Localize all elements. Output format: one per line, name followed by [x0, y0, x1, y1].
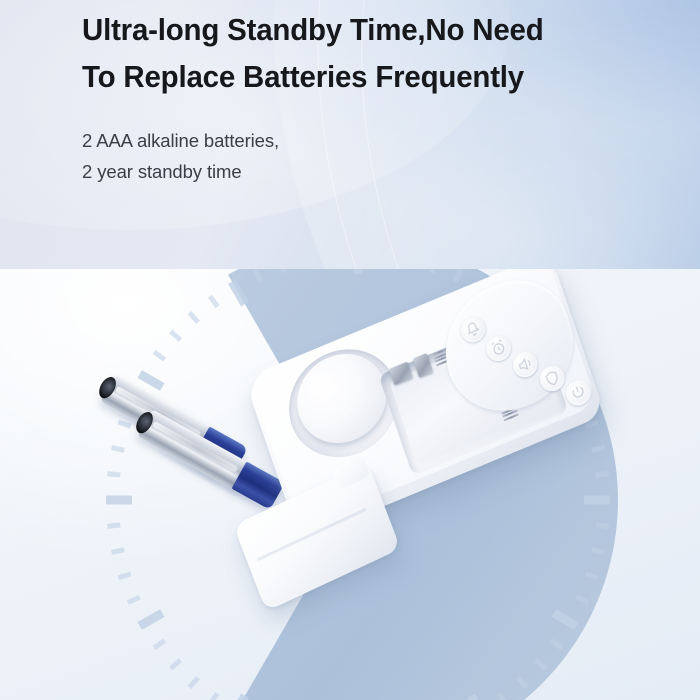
power-icon [568, 381, 589, 404]
product-banner: Ultra-long Standby Time,No Need To Repla… [0, 0, 700, 700]
bell-icon [462, 318, 483, 341]
headline-line-1: Ultra-long Standby Time,No Need [82, 6, 633, 53]
speaker-icon [515, 353, 536, 376]
subline-line-1: 2 AAA alkaline batteries, [82, 125, 662, 156]
subline-line-2: 2 year standby time [82, 156, 662, 187]
shield-icon [542, 367, 563, 390]
hero-panel: Ultra-long Standby Time,No Need To Repla… [0, 0, 700, 269]
alarm-icon [488, 337, 509, 360]
hero-text-block: Ultra-long Standby Time,No Need To Repla… [82, 6, 662, 187]
product-photo-panel [0, 269, 700, 700]
headline-line-2: To Replace Batteries Frequently [82, 53, 633, 100]
battery-cover-seam [257, 508, 367, 562]
